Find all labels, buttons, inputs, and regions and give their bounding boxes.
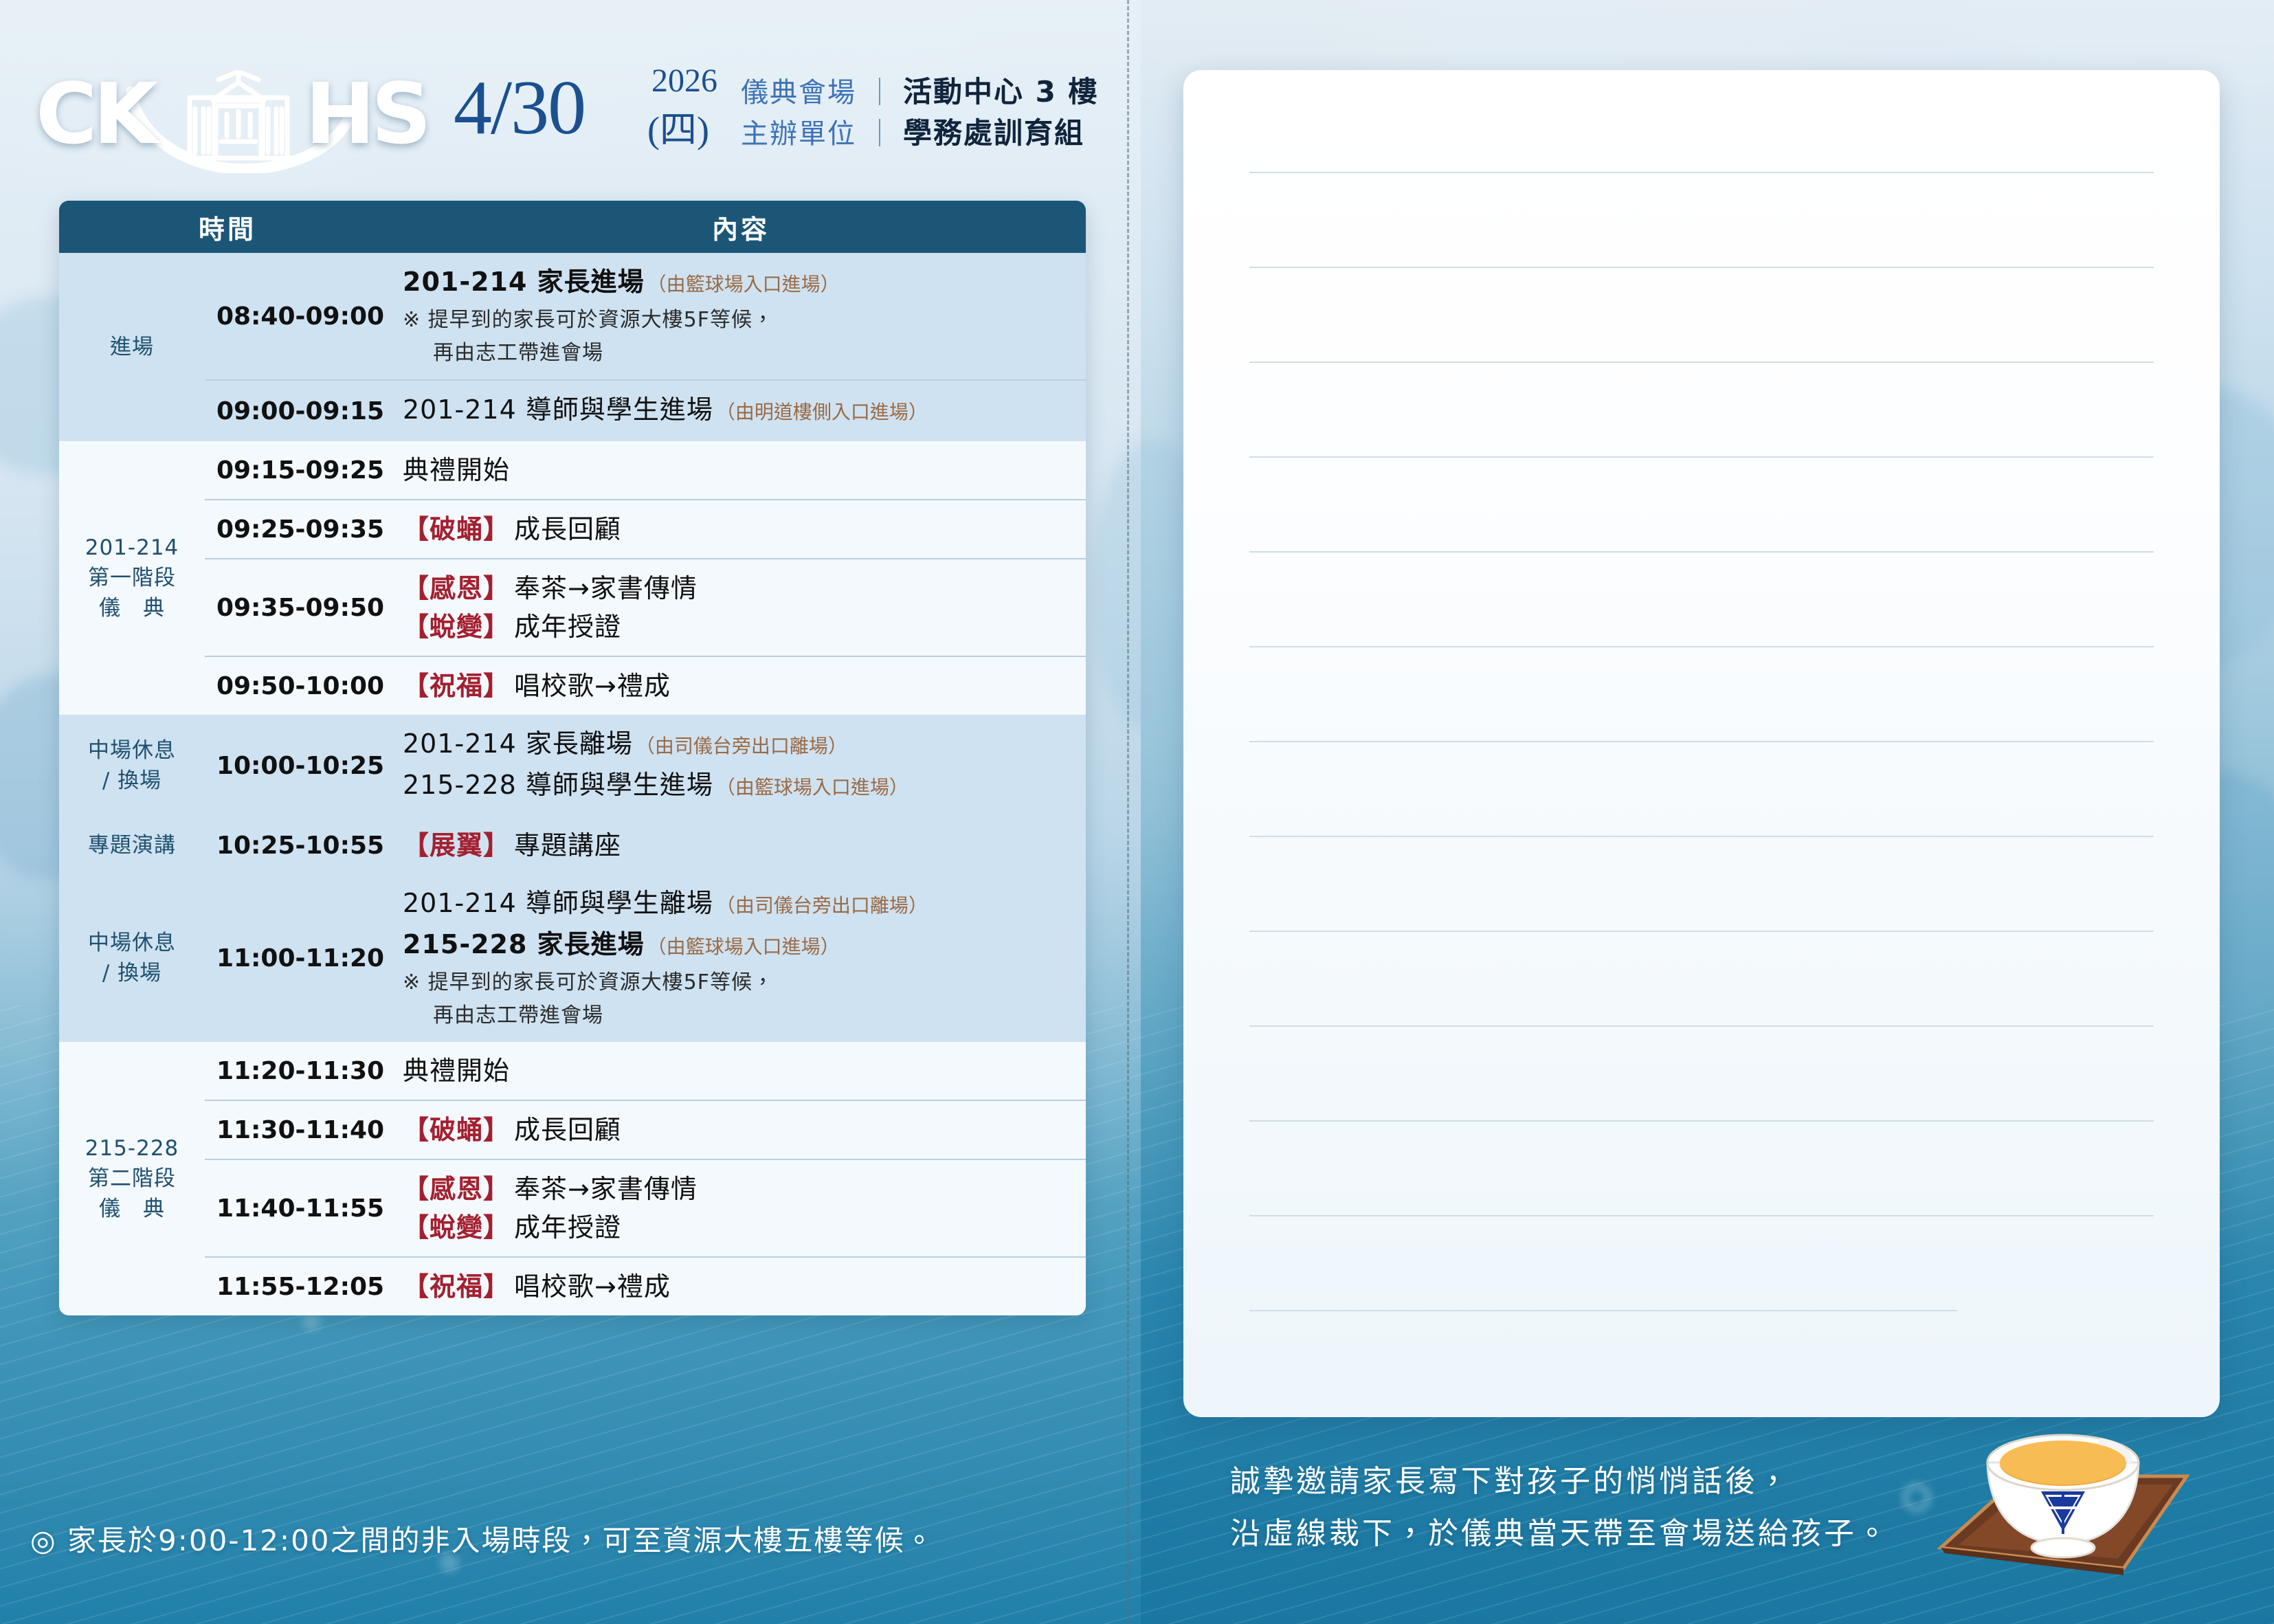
table-row: 11:20-11:30典禮開始 xyxy=(205,1042,1086,1100)
time-cell: 11:00-11:20 xyxy=(205,944,396,972)
segment-description: 成長回顧 xyxy=(514,1111,621,1149)
table-row: 10:00-10:25201-214 家長離場（由司儀台旁出口離場）215-22… xyxy=(205,715,1086,816)
date-day-of-week: (四) xyxy=(647,109,709,151)
category-label: 儀 典 xyxy=(99,1194,165,1224)
content-line: 典禮開始 xyxy=(403,1052,1086,1090)
note-ruled-line xyxy=(1249,741,2154,742)
table-row: 08:40-09:00201-214 家長進場（由籃球場入口進場）※ 提早到的家… xyxy=(205,253,1086,379)
row-note: 再由志工帶進會場 xyxy=(403,999,1086,1032)
invite-text: 誠摯邀請家長寫下對孩子的悄悄話後， 沿虛線裁下，於儀典當天帶至會場送給孩子。 xyxy=(1230,1456,1890,1560)
segment-tag: 【破蛹】 xyxy=(403,510,510,548)
schedule-footnote: ◎ 家長於9:00-12:00之間的非入場時段，可至資源大樓五樓等候。 xyxy=(30,1517,935,1559)
content-line: 【祝福】唱校歌→禮成 xyxy=(403,1267,1086,1306)
note-ruled-line xyxy=(1249,551,2154,553)
segment-entrance-note: （由籃球場入口進場） xyxy=(716,768,909,807)
logo-text-ck: CK xyxy=(36,66,154,162)
category-label: / 換場 xyxy=(102,958,161,988)
time-cell: 09:50-10:00 xyxy=(205,672,396,700)
table-row: 11:40-11:55【感恩】奉茶→家書傳情【蛻變】成年授證 xyxy=(205,1159,1086,1256)
event-date: 4/30 2026 (四) xyxy=(454,63,742,159)
invite-line-2: 沿虛線裁下，於儀典當天帶至會場送給孩子。 xyxy=(1230,1508,1890,1560)
segment-tag: 【蛻變】 xyxy=(403,1208,510,1247)
event-info-block: 儀典會場 ｜ 活動中心 3 樓 主辦單位 ｜ 學務處訓育組 xyxy=(741,69,1126,151)
note-ruled-line xyxy=(1249,1120,2154,1122)
category-label: 第二階段 xyxy=(88,1164,176,1194)
content-line: 【展翼】專題講座 xyxy=(403,826,1086,865)
schedule-group: 專題演講10:25-10:55【展翼】專題講座 xyxy=(59,816,1086,874)
content-line: 201-214 家長進場（由籃球場入口進場） xyxy=(403,263,1086,304)
segment-tag: 【蛻變】 xyxy=(403,608,510,646)
content-cell: 201-214 導師與學生進場（由明道樓側入口進場） xyxy=(396,381,1086,441)
schedule-group: 中場休息/ 換場10:00-10:25201-214 家長離場（由司儀台旁出口離… xyxy=(59,715,1086,816)
segment-description: 專題講座 xyxy=(514,826,621,865)
category-label: 中場休息 xyxy=(88,735,176,766)
segment-description: 201-214 導師與學生進場 xyxy=(403,390,713,429)
school-building-icon xyxy=(173,70,304,164)
segment-description: 唱校歌→禮成 xyxy=(514,1267,671,1306)
content-cell: 【破蛹】成長回顧 xyxy=(396,1101,1086,1159)
content-line: 【破蛹】成長回顧 xyxy=(403,510,1086,548)
note-ruled-line xyxy=(1249,361,2154,363)
time-cell: 09:00-09:15 xyxy=(205,397,396,425)
segment-description: 201-214 導師與學生離場 xyxy=(403,884,713,922)
table-body: 進場08:40-09:00201-214 家長進場（由籃球場入口進場）※ 提早到… xyxy=(59,253,1086,1315)
content-line: 215-228 導師與學生進場（由籃球場入口進場） xyxy=(403,766,1086,807)
segment-description: 成長回顧 xyxy=(514,510,621,548)
content-line: 典禮開始 xyxy=(403,451,1086,489)
segment-entrance-note: （由明道樓側入口進場） xyxy=(716,393,928,432)
content-cell: 【感恩】奉茶→家書傳情【蛻變】成年授證 xyxy=(396,1160,1086,1256)
date-value: 4/30 xyxy=(454,63,585,153)
info-value-venue: 活動中心 3 樓 xyxy=(903,69,1098,111)
content-cell: 【破蛹】成長回顧 xyxy=(396,500,1086,558)
note-ruled-line xyxy=(1249,1025,2154,1027)
table-row: 09:50-10:00【祝福】唱校歌→禮成 xyxy=(205,656,1086,715)
segment-description: 215-228 導師與學生進場 xyxy=(403,766,713,804)
table-row: 11:30-11:40【破蛹】成長回顧 xyxy=(205,1100,1086,1159)
segment-description: 201-214 家長進場 xyxy=(403,263,645,301)
segment-tag: 【展翼】 xyxy=(403,826,510,865)
time-cell: 09:35-09:50 xyxy=(205,594,396,622)
content-cell: 典禮開始 xyxy=(396,1042,1086,1100)
info-row-venue: 儀典會場 ｜ 活動中心 3 樓 xyxy=(741,69,1126,110)
segment-tag: 【祝福】 xyxy=(403,667,510,705)
segment-entrance-note: （由司儀台旁出口離場） xyxy=(716,887,928,925)
cut-line-dashed xyxy=(1127,0,1129,1624)
time-cell: 09:25-09:35 xyxy=(205,515,396,544)
table-row: 09:25-09:35【破蛹】成長回顧 xyxy=(205,499,1086,558)
column-header-content: 內容 xyxy=(396,208,1086,246)
category-label: 215-228 xyxy=(85,1133,179,1164)
time-cell: 11:55-12:05 xyxy=(205,1273,396,1301)
category-label: 專題演講 xyxy=(88,830,176,860)
school-logo: CK HS xyxy=(36,66,448,162)
note-ruled-line xyxy=(1249,646,2154,647)
content-cell: 201-214 家長離場（由司儀台旁出口離場）215-228 導師與學生進場（由… xyxy=(396,715,1086,816)
content-line: 【感恩】奉茶→家書傳情 xyxy=(403,569,1086,608)
segment-entrance-note: （由籃球場入口進場） xyxy=(647,928,840,966)
content-line: 215-228 家長進場（由籃球場入口進場） xyxy=(403,925,1086,966)
time-cell: 11:30-11:40 xyxy=(205,1116,396,1144)
info-value-organizer: 學務處訓育組 xyxy=(903,110,1084,152)
column-header-time: 時間 xyxy=(59,208,396,246)
segment-description: 成年授證 xyxy=(514,1208,621,1247)
note-ruled-line xyxy=(1249,456,2154,458)
date-year: 2026 xyxy=(651,65,717,98)
note-ruled-line xyxy=(1249,1310,1957,1311)
schedule-category-cell: 中場休息/ 換場 xyxy=(59,874,205,1042)
segment-description: 唱校歌→禮成 xyxy=(514,667,671,705)
message-note-card[interactable] xyxy=(1183,70,2220,1417)
time-cell: 09:15-09:25 xyxy=(205,456,396,485)
time-cell: 11:20-11:30 xyxy=(205,1057,396,1085)
segment-description: 奉茶→家書傳情 xyxy=(514,569,698,608)
time-cell: 10:25-10:55 xyxy=(205,832,396,860)
schedule-table: 時間 內容 進場08:40-09:00201-214 家長進場（由籃球場入口進場… xyxy=(59,201,1086,1315)
segment-description: 215-228 家長進場 xyxy=(403,925,645,964)
segment-tag: 【破蛹】 xyxy=(403,1111,510,1149)
content-line: 201-214 家長離場（由司儀台旁出口離場） xyxy=(403,724,1086,766)
category-label: / 換場 xyxy=(102,766,161,796)
table-row: 09:35-09:50【感恩】奉茶→家書傳情【蛻變】成年授證 xyxy=(205,558,1086,656)
category-label: 中場休息 xyxy=(88,928,176,958)
schedule-category-cell: 201-214第一階段儀 典 xyxy=(59,441,205,715)
content-line: 【破蛹】成長回顧 xyxy=(403,1111,1086,1149)
schedule-category-cell: 215-228第二階段儀 典 xyxy=(59,1042,205,1315)
content-cell: 201-214 家長進場（由籃球場入口進場）※ 提早到的家長可於資源大樓5F等候… xyxy=(396,253,1086,379)
segment-entrance-note: （由籃球場入口進場） xyxy=(647,265,840,304)
table-row: 10:25-10:55【展翼】專題講座 xyxy=(205,816,1086,874)
schedule-group: 215-228第二階段儀 典11:20-11:30典禮開始11:30-11:40… xyxy=(59,1042,1086,1315)
content-cell: 【祝福】唱校歌→禮成 xyxy=(396,1258,1086,1315)
info-label-organizer: 主辦單位 xyxy=(741,111,856,151)
page-header: CK HS 4/30 2026 (四) 儀典 xyxy=(0,0,1141,206)
content-line: 【蛻變】成年授證 xyxy=(403,1208,1086,1247)
content-line: 【祝福】唱校歌→禮成 xyxy=(403,667,1086,705)
content-line: 201-214 導師與學生進場（由明道樓側入口進場） xyxy=(403,390,1086,432)
segment-tag: 【祝福】 xyxy=(403,1267,510,1306)
time-cell: 10:00-10:25 xyxy=(205,752,396,780)
schedule-group: 201-214第一階段儀 典09:15-09:25典禮開始09:25-09:35… xyxy=(59,441,1086,715)
segment-description: 奉茶→家書傳情 xyxy=(514,1170,698,1208)
note-ruled-line xyxy=(1249,267,2154,268)
content-cell: 【感恩】奉茶→家書傳情【蛻變】成年授證 xyxy=(396,559,1086,656)
schedule-group: 中場休息/ 換場11:00-11:20201-214 導師與學生離場（由司儀台旁… xyxy=(59,874,1086,1042)
note-ruled-line xyxy=(1249,931,2154,932)
table-row: 11:00-11:20201-214 導師與學生離場（由司儀台旁出口離場）215… xyxy=(205,874,1086,1042)
table-row: 11:55-12:05【祝福】唱校歌→禮成 xyxy=(205,1256,1086,1315)
content-line: 【蛻變】成年授證 xyxy=(403,608,1086,646)
schedule-group: 進場08:40-09:00201-214 家長進場（由籃球場入口進場）※ 提早到… xyxy=(59,253,1086,441)
segment-entrance-note: （由司儀台旁出口離場） xyxy=(636,727,847,766)
category-label: 201-214 xyxy=(85,533,179,563)
content-cell: 201-214 導師與學生離場（由司儀台旁出口離場）215-228 家長進場（由… xyxy=(396,874,1086,1042)
segment-description: 典禮開始 xyxy=(403,451,510,489)
info-label-venue: 儀典會場 xyxy=(741,70,856,110)
row-note: 再由志工帶進會場 xyxy=(403,337,1086,370)
content-line: 【感恩】奉茶→家書傳情 xyxy=(403,1170,1086,1208)
content-cell: 【展翼】專題講座 xyxy=(396,816,1086,874)
table-row: 09:00-09:15201-214 導師與學生進場（由明道樓側入口進場） xyxy=(205,379,1086,441)
segment-description: 201-214 家長離場 xyxy=(403,724,633,763)
note-ruled-line xyxy=(1249,836,2154,837)
segment-description: 典禮開始 xyxy=(403,1052,510,1090)
note-ruled-line xyxy=(1249,1215,2154,1216)
tea-bowl-on-tray-icon xyxy=(1917,1388,2206,1615)
content-line: 201-214 導師與學生離場（由司儀台旁出口離場） xyxy=(403,884,1086,925)
row-note: ※ 提早到的家長可於資源大樓5F等候， xyxy=(403,304,1086,337)
content-cell: 【祝福】唱校歌→禮成 xyxy=(396,657,1086,715)
category-label: 進場 xyxy=(110,332,154,362)
note-ruled-line xyxy=(1249,172,2154,173)
table-row: 09:15-09:25典禮開始 xyxy=(205,441,1086,499)
info-separator: ｜ xyxy=(866,111,893,151)
segment-tag: 【感恩】 xyxy=(403,1170,510,1208)
time-cell: 08:40-09:00 xyxy=(205,302,396,331)
segment-description: 成年授證 xyxy=(514,608,621,646)
info-separator: ｜ xyxy=(866,70,893,110)
invite-line-1: 誠摯邀請家長寫下對孩子的悄悄話後， xyxy=(1230,1456,1890,1508)
logo-text-hs: HS xyxy=(305,66,427,162)
time-cell: 11:40-11:55 xyxy=(205,1194,396,1223)
schedule-category-cell: 專題演講 xyxy=(59,816,205,874)
content-cell: 典禮開始 xyxy=(396,441,1086,499)
table-header-row: 時間 內容 xyxy=(59,201,1086,253)
segment-tag: 【感恩】 xyxy=(403,569,510,608)
category-label: 第一階段 xyxy=(88,563,176,593)
schedule-category-cell: 進場 xyxy=(59,253,205,441)
row-note: ※ 提早到的家長可於資源大樓5F等候， xyxy=(403,966,1086,999)
info-row-organizer: 主辦單位 ｜ 學務處訓育組 xyxy=(741,110,1126,151)
category-label: 儀 典 xyxy=(99,593,165,623)
schedule-category-cell: 中場休息/ 換場 xyxy=(59,715,205,816)
